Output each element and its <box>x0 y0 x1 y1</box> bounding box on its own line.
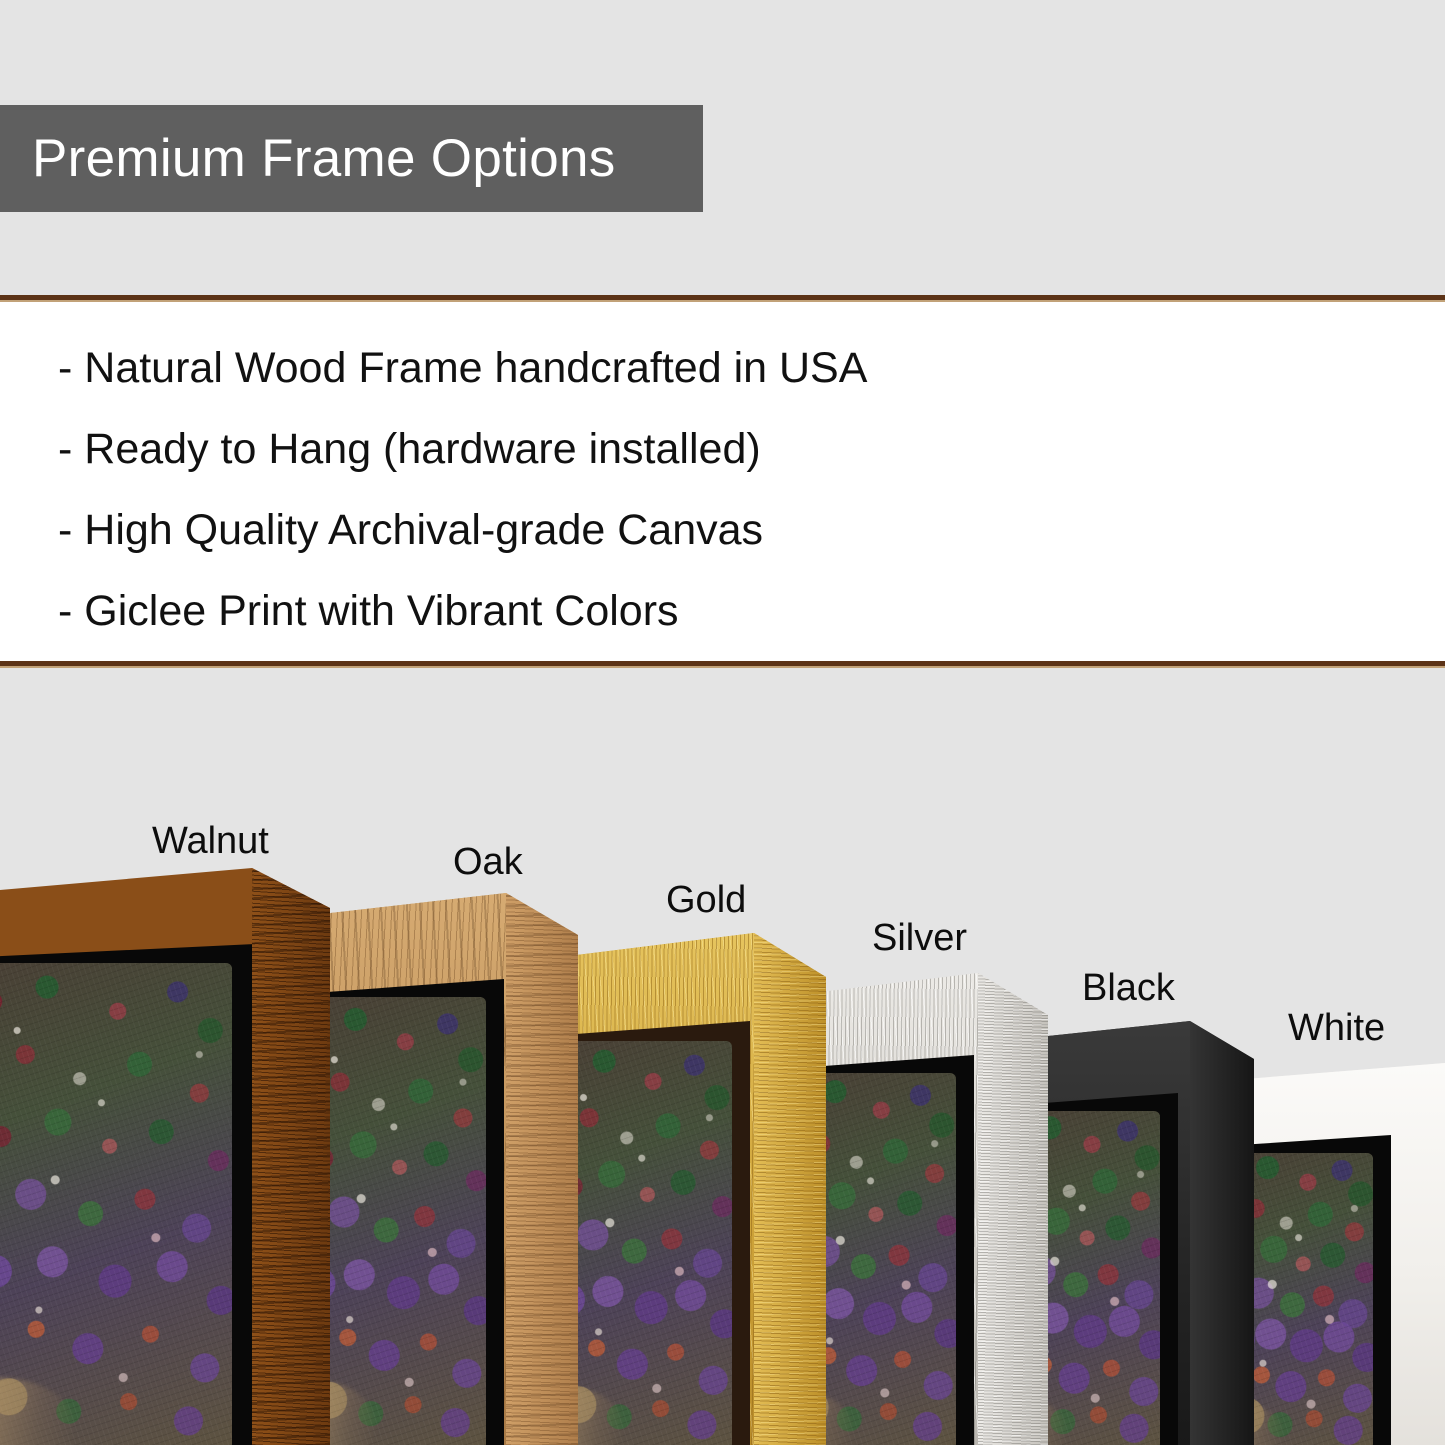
frame-side-walnut <box>252 868 330 1445</box>
frame-label-oak: Oak <box>453 841 523 884</box>
page-title-banner: Premium Frame Options <box>0 105 703 212</box>
frame-label-gold: Gold <box>666 879 746 922</box>
frame-body-walnut <box>0 868 330 1445</box>
frame-label-walnut: Walnut <box>152 820 269 863</box>
frame-side-gold <box>754 933 826 1445</box>
artwork-texture <box>0 963 232 1445</box>
frame-label-white: White <box>1288 1007 1385 1050</box>
feature-item: - Natural Wood Frame handcrafted in USA <box>0 328 1445 409</box>
frame-showcase: White Black <box>0 668 1445 1445</box>
page-title: Premium Frame Options <box>0 128 616 189</box>
features-panel: - Natural Wood Frame handcrafted in USA … <box>0 302 1445 661</box>
frame-label-black: Black <box>1082 967 1175 1010</box>
frame-side-black <box>1190 1021 1254 1445</box>
frame-option-walnut[interactable]: Walnut <box>0 868 330 1445</box>
feature-item: - Ready to Hang (hardware installed) <box>0 409 1445 490</box>
frame-label-silver: Silver <box>872 917 967 960</box>
artwork-walnut <box>0 963 232 1445</box>
frame-side-oak <box>506 893 578 1445</box>
frame-options-page: Premium Frame Options - Natural Wood Fra… <box>0 0 1445 1445</box>
feature-item: - Giclee Print with Vibrant Colors <box>0 571 1445 652</box>
frame-side-silver <box>978 973 1048 1445</box>
feature-item: - High Quality Archival-grade Canvas <box>0 490 1445 571</box>
header-band: Premium Frame Options <box>0 0 1445 295</box>
